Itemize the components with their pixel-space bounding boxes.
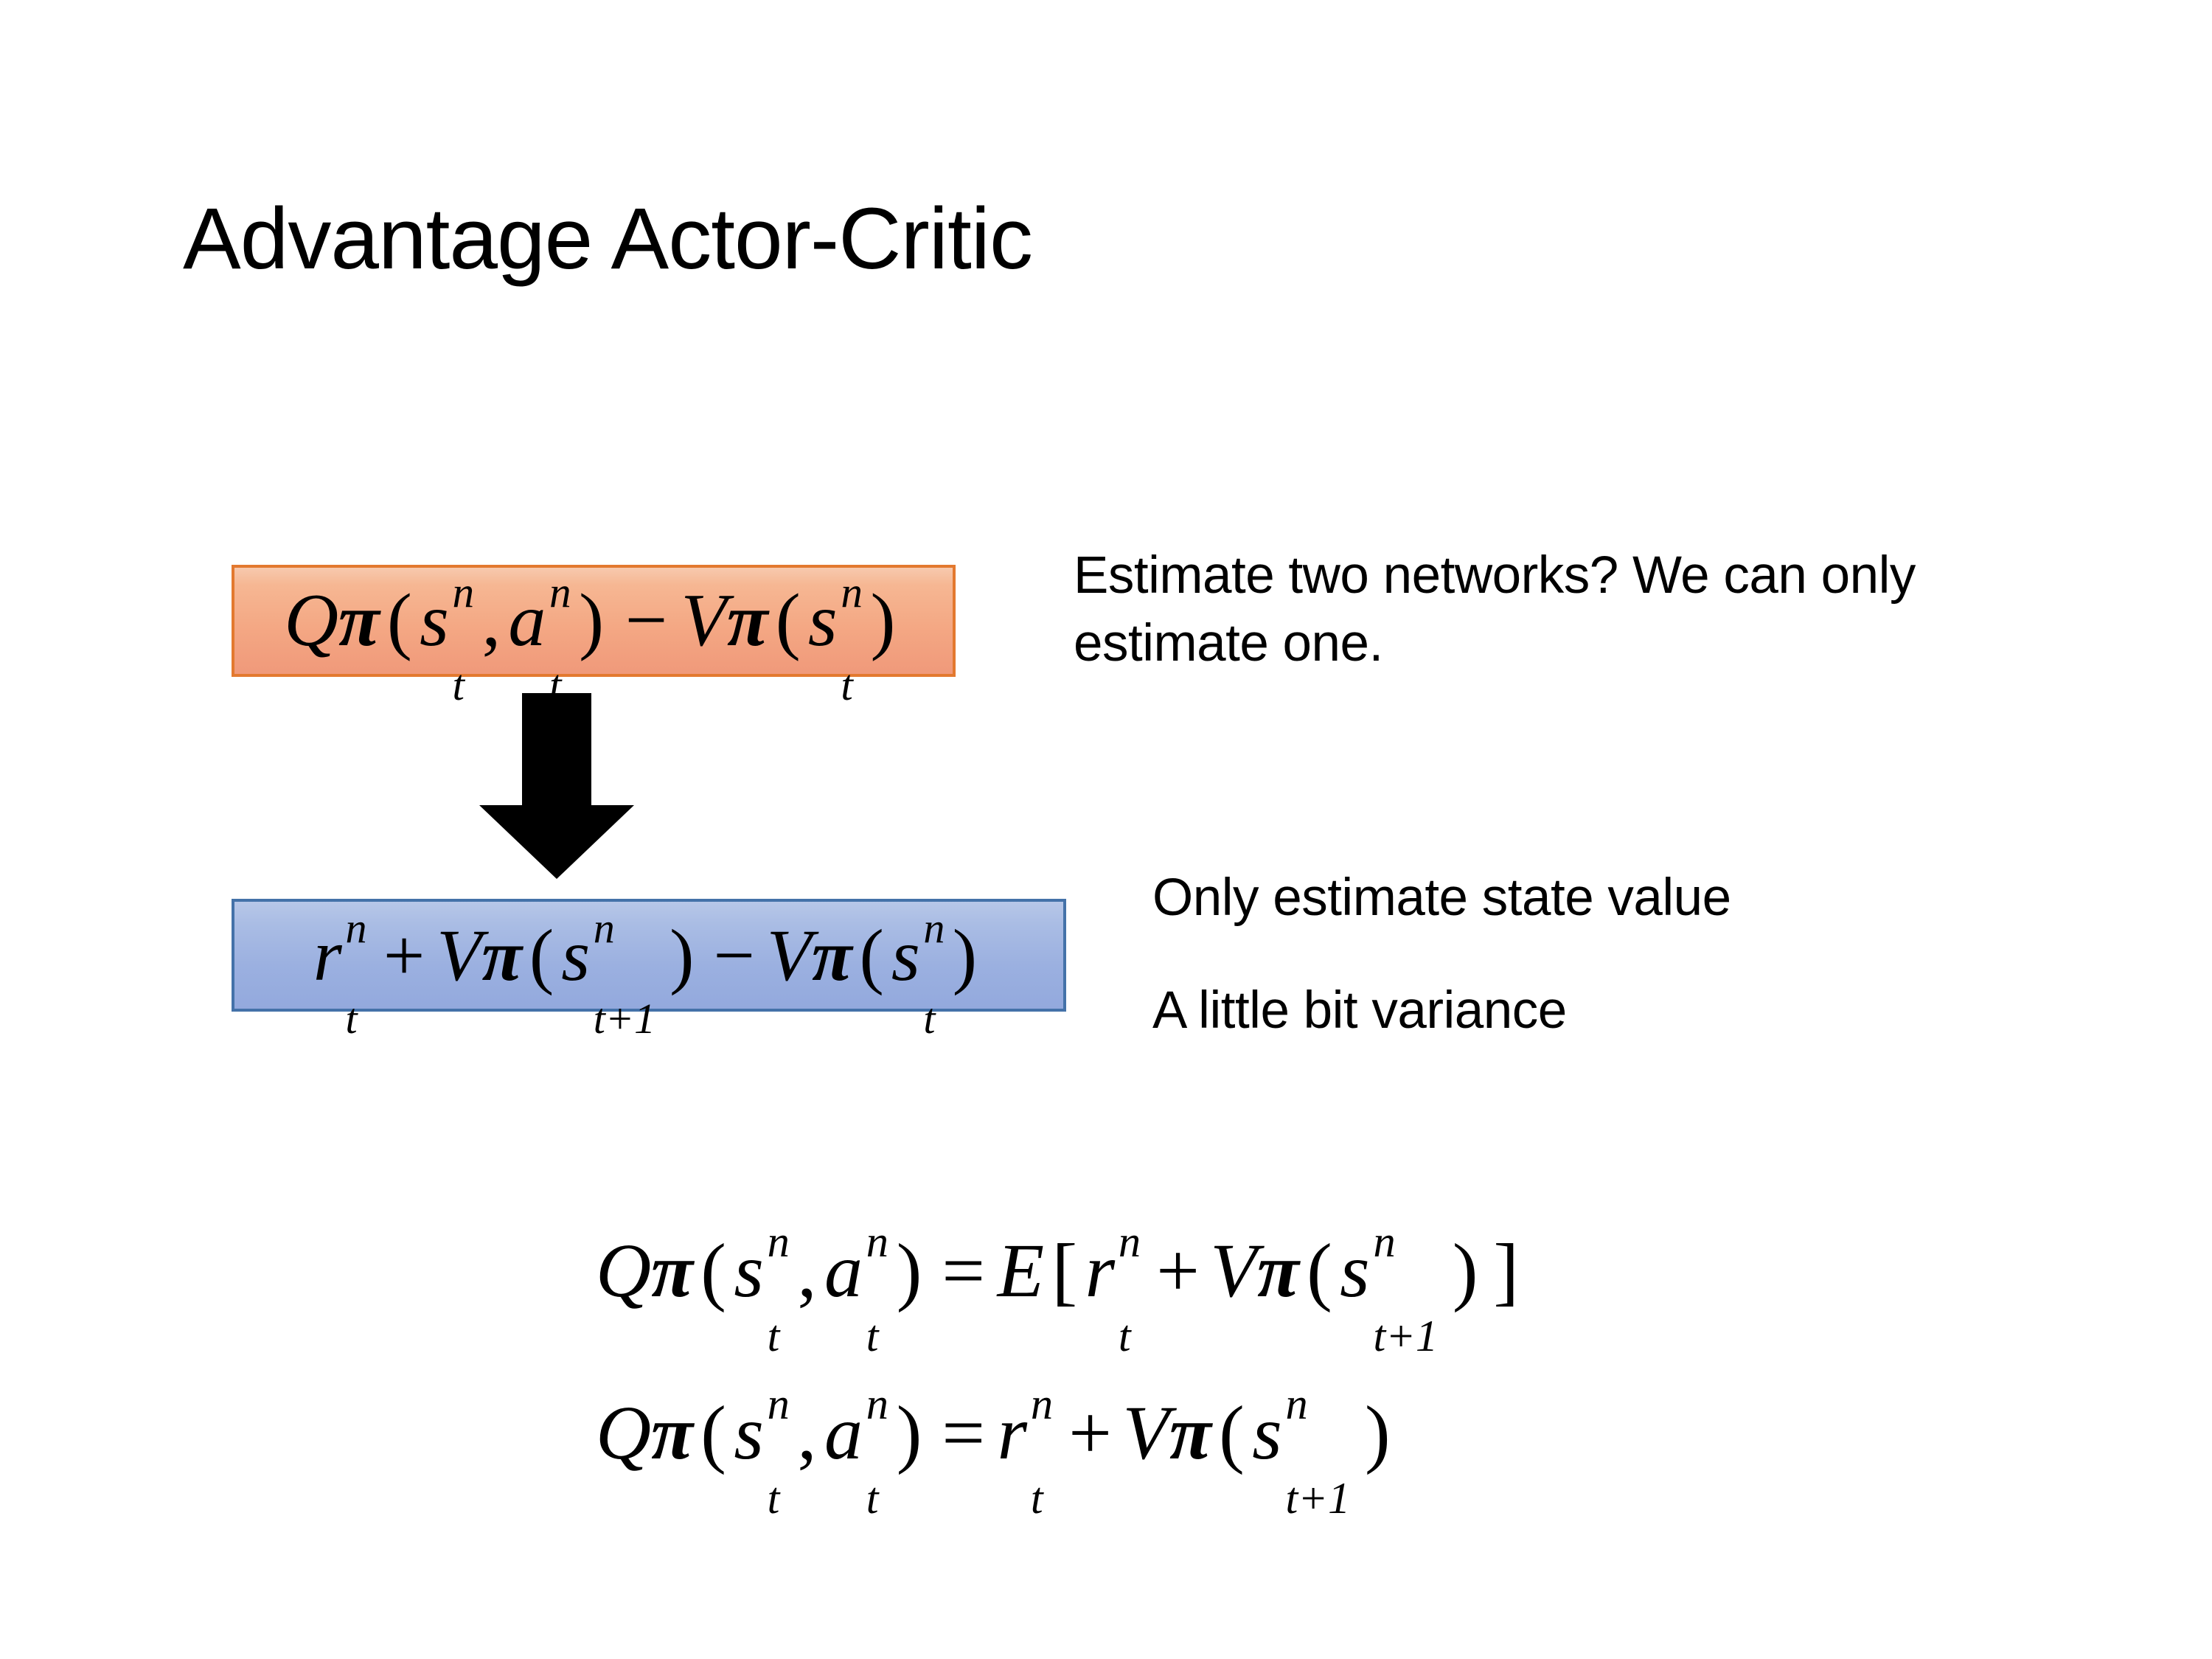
formula-box-td-error: rnt+Vπ(snt+1)−Vπ(snt): [232, 899, 1066, 1012]
math-paren-open-2b: (: [852, 914, 891, 996]
math-pi: π: [338, 579, 380, 662]
math-Q: Q: [596, 1391, 651, 1475]
math-comma: ,: [790, 1228, 824, 1313]
math-s1-superscript: n: [594, 907, 615, 950]
math-r-superscript: n: [345, 907, 366, 950]
math-s-superscript: n: [452, 571, 474, 614]
math-paren-close-2b: ): [945, 914, 984, 996]
math-s-superscript: n: [768, 1220, 790, 1265]
math-s2b-superscript: n: [923, 907, 945, 950]
math-Q: Q: [596, 1228, 651, 1313]
math-s: s: [734, 1228, 763, 1313]
slide-canvas: Advantage Actor-Critic Qπ(snt,ant)−Vπ(sn…: [0, 0, 2212, 1659]
math-plus: +: [1146, 1228, 1211, 1313]
math-s-subscript: t: [452, 664, 464, 707]
math-comma: ,: [790, 1391, 824, 1475]
math-plus: +: [1058, 1391, 1123, 1475]
math-a-subscript: t: [866, 1477, 879, 1521]
math-r-superscript: n: [1031, 1382, 1053, 1427]
math-s2-subscript: t+1: [1285, 1477, 1350, 1521]
math-paren-close-1: ): [662, 914, 701, 996]
math-s-2: s: [808, 579, 838, 662]
math-paren-close: ): [571, 579, 611, 662]
math-paren-open-2: (: [1211, 1391, 1252, 1475]
math-minus-operator-2: −: [701, 914, 766, 996]
math-paren-open-2: (: [768, 579, 808, 662]
math-r: r: [1085, 1228, 1115, 1313]
math-paren-open: (: [693, 1228, 734, 1313]
math-paren-close: ): [888, 1391, 929, 1475]
math-pi-2: π: [1257, 1228, 1299, 1313]
math-minus-operator: −: [611, 579, 681, 662]
formula-box-advantage: Qπ(snt,ant)−Vπ(snt): [232, 565, 956, 677]
math-s-subscript: t: [768, 1477, 780, 1521]
math-paren-close-2: ): [863, 579, 902, 662]
math-comma: ,: [474, 579, 508, 662]
math-pi-2b: π: [812, 914, 852, 996]
math-paren-close-2: ): [1357, 1391, 1398, 1475]
math-s2-subscript: t: [841, 664, 852, 707]
math-s2-superscript: n: [1373, 1220, 1395, 1265]
math-pi: π: [651, 1228, 693, 1313]
math-s-2: s: [1252, 1391, 1281, 1475]
math-r-subscript: t: [1119, 1315, 1131, 1359]
math-Q: Q: [284, 579, 338, 662]
math-equals: =: [930, 1391, 998, 1475]
math-r: r: [313, 914, 342, 996]
math-paren-open: (: [693, 1391, 734, 1475]
math-s2-superscript: n: [1285, 1382, 1307, 1427]
math-paren-open: (: [380, 579, 420, 662]
math-s1-subscript: t+1: [594, 998, 655, 1040]
note-only-estimate-state-value: Only estimate state value: [1152, 864, 2111, 932]
equation-q-equals-expectation: Qπ(snt,ant)=E[rnt+Vπ(snt+1)]: [596, 1233, 1526, 1310]
math-a: a: [824, 1228, 863, 1313]
math-a-subscript: t: [866, 1315, 879, 1359]
math-paren-open-1: (: [522, 914, 561, 996]
math-a-superscript: n: [549, 571, 571, 614]
math-r: r: [998, 1391, 1027, 1475]
math-V: V: [681, 579, 727, 662]
math-a: a: [824, 1391, 863, 1475]
math-s: s: [734, 1391, 763, 1475]
math-a-superscript: n: [866, 1220, 888, 1265]
math-r-subscript: t: [345, 998, 357, 1040]
math-s2b-subscript: t: [923, 998, 935, 1040]
note-two-networks: Estimate two networks? We can only estim…: [1074, 542, 2032, 678]
formula-advantage-math: Qπ(snt,ant)−Vπ(snt): [284, 583, 902, 658]
math-s-subscript: t: [768, 1315, 780, 1359]
math-bracket-close: ]: [1486, 1228, 1526, 1313]
math-paren-close: ): [888, 1228, 929, 1313]
math-s2-superscript: n: [841, 571, 863, 614]
math-s-1: s: [561, 914, 590, 996]
math-V-2: V: [767, 914, 812, 996]
formula-td-error-math: rnt+Vπ(snt+1)−Vπ(snt): [313, 919, 984, 992]
note-a-little-bit-variance: A little bit variance: [1152, 977, 2111, 1045]
math-bracket-open: [: [1044, 1228, 1085, 1313]
math-E: E: [998, 1228, 1045, 1313]
math-paren-close-2: ): [1445, 1228, 1486, 1313]
math-r-superscript: n: [1119, 1220, 1141, 1265]
math-s-2b: s: [891, 914, 920, 996]
math-s2-subscript: t+1: [1373, 1315, 1438, 1359]
math-V: V: [1210, 1228, 1257, 1313]
math-equals: =: [930, 1228, 998, 1313]
math-a-superscript: n: [866, 1382, 888, 1427]
math-plus-operator: +: [372, 914, 437, 996]
math-pi: π: [651, 1391, 693, 1475]
math-a: a: [508, 579, 546, 662]
math-s-2: s: [1340, 1228, 1369, 1313]
math-s: s: [420, 579, 449, 662]
page-title: Advantage Actor-Critic: [183, 190, 1032, 288]
equation-q-equals-reward-plus-value: Qπ(snt,ant)=rnt+Vπ(snt+1): [596, 1395, 1398, 1472]
math-pi-1: π: [481, 914, 522, 996]
math-V-1: V: [437, 914, 481, 996]
arrow-down-icon: [479, 693, 634, 879]
math-V: V: [1122, 1391, 1169, 1475]
math-pi-2: π: [727, 579, 768, 662]
math-r-subscript: t: [1031, 1477, 1043, 1521]
math-pi-2: π: [1169, 1391, 1211, 1475]
math-s-superscript: n: [768, 1382, 790, 1427]
math-paren-open-2: (: [1299, 1228, 1340, 1313]
